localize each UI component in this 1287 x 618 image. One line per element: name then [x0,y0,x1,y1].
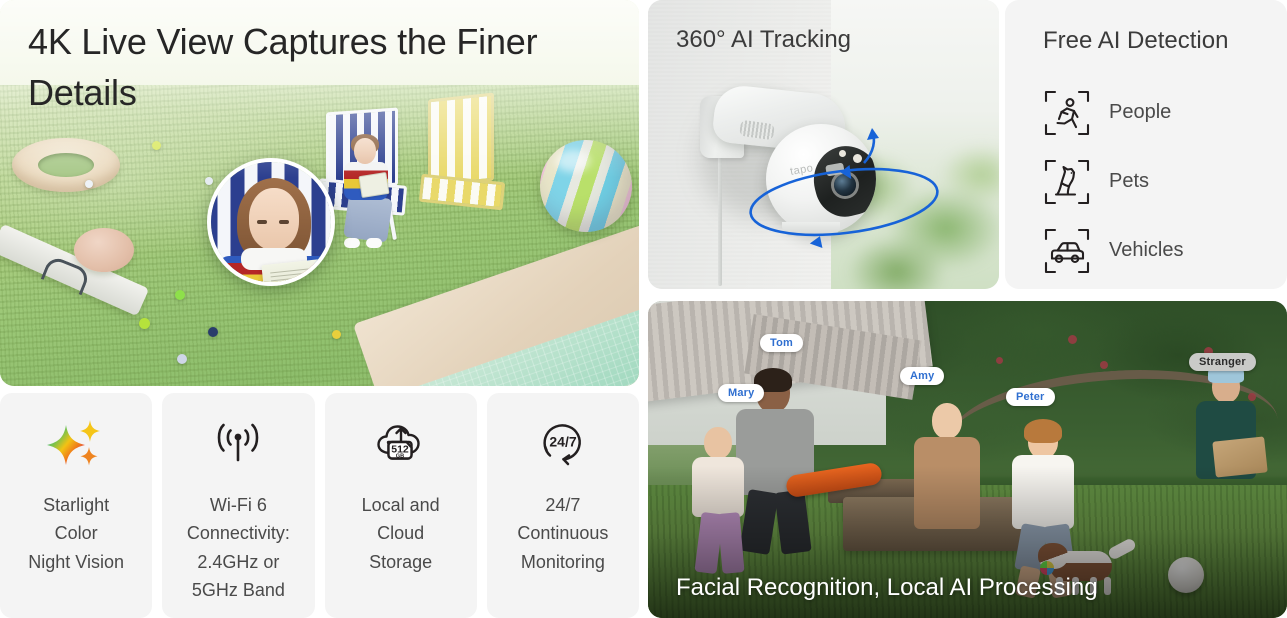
free-ai-detection-panel: Free AI Detection People [1005,0,1287,289]
detection-list: People Pets [1043,78,1263,285]
detection-item-vehicles: Vehicles [1043,216,1263,285]
face-box-stranger [1195,369,1239,411]
name-tag-peter: Peter [1006,388,1055,406]
camera-lens [834,174,856,196]
tracking-title: 360° AI Tracking [676,26,851,54]
detection-item-label: Vehicles [1109,239,1184,262]
toy-ball [205,177,213,185]
cloud-sdcard-icon: 512 GB [370,417,432,473]
face-box-amy [910,401,962,451]
toy-ball [332,330,341,339]
feature-card-wifi6: Wi-Fi 6 Connectivity: 2.4GHz or 5GHz Ban… [162,393,314,618]
clock-cycle-icon: 24/7 [532,417,594,473]
ai-tracking-panel: tapo 360° AI Tracking [648,0,999,289]
feature-card-label: Local and Cloud Storage [354,491,448,576]
toy-ball [208,327,218,337]
hero-title: 4K Live View Captures the Finer Details [28,16,588,118]
camera-cable [718,150,722,286]
name-tag-stranger: Stranger [1189,353,1256,371]
feature-card-label: 24/7 Continuous Monitoring [509,491,616,576]
pet-detection-icon [1043,158,1091,206]
camera-ir-led [839,150,846,157]
toy-ball [85,180,93,188]
toy-ball [139,318,150,329]
name-tag-amy: Amy [900,367,944,385]
camera-brand-label: tapo [789,162,814,178]
face-box-peter [1001,423,1051,471]
facial-caption: Facial Recognition, Local AI Processing [676,574,1098,602]
detection-item-pets: Pets [1043,147,1263,216]
detection-item-label: People [1109,101,1171,124]
name-tag-mary: Mary [718,384,764,402]
facial-recognition-panel: Tom Mary Amy Peter Stranger Facial Recog… [648,301,1287,618]
detection-title: Free AI Detection [1043,27,1228,55]
sd-unit-text: GB [395,454,403,460]
feature-card-starlight: Starlight Color Night Vision [0,393,152,618]
vehicle-detection-icon [1043,227,1091,275]
detection-item-label: Pets [1109,170,1149,193]
feature-card-row: Starlight Color Night Vision Wi-Fi 6 Con… [0,393,639,618]
toy-ball [177,354,187,364]
feature-card-storage: 512 GB Local and Cloud Storage [325,393,477,618]
camera-dome: tapo [766,124,876,234]
toy-ball [175,290,185,300]
name-tag-tom: Tom [760,334,803,352]
starlight-sparkle-icon [45,417,107,473]
hero-4k-live-view-panel: 4K Live View Captures the Finer Details [0,0,639,386]
face-box-mary [698,431,744,475]
feature-card-label: Starlight Color Night Vision [20,491,132,576]
seesaw-seat [74,228,134,272]
product-feature-collage: 4K Live View Captures the Finer Details … [0,0,1287,618]
feature-card-label: Wi-Fi 6 Connectivity: 2.4GHz or 5GHz Ban… [179,491,298,605]
camera-ir-led [853,154,862,163]
feature-card-monitoring: 24/7 24/7 Continuous Monitoring [487,393,639,618]
monitoring-icon-text: 24/7 [549,434,576,450]
person-detection-icon [1043,89,1091,137]
camera-dome-base [782,222,840,236]
detection-item-people: People [1043,78,1263,147]
wifi-antenna-icon [207,417,269,473]
